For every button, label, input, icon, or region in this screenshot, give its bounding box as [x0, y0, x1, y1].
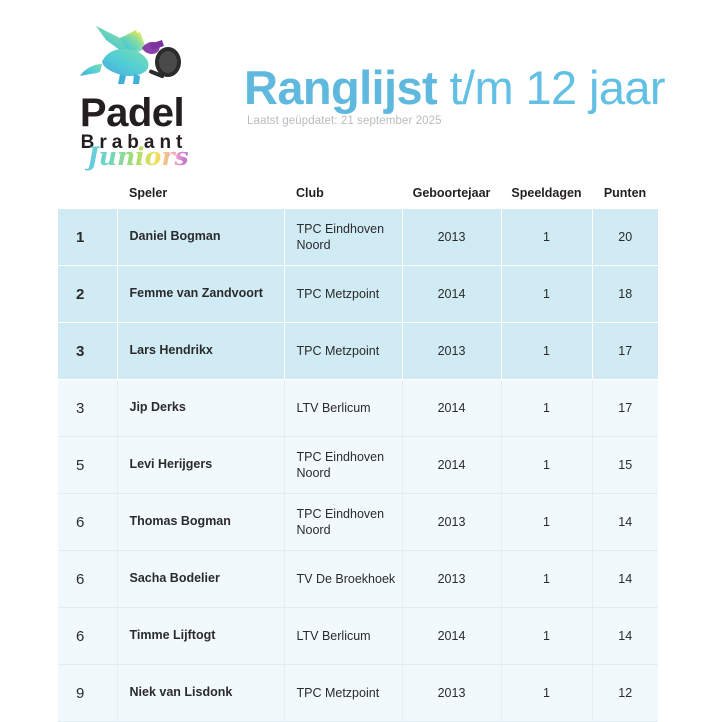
cell-speeldagen: 1 — [501, 551, 592, 608]
dragon-with-padel-racket-icon — [76, 22, 188, 96]
ranking-table: Speler Club Geboortejaar Speeldagen Punt… — [58, 186, 658, 722]
cell-speeldagen: 1 — [501, 437, 592, 494]
cell-rank: 3 — [58, 380, 117, 437]
cell-punten: 20 — [592, 209, 658, 266]
cell-speler: Timme Lijftogt — [117, 608, 284, 665]
cell-speler: Thomas Bogman — [117, 494, 284, 551]
svg-text:Juniors: Juniors — [85, 142, 189, 171]
cell-speeldagen: 1 — [501, 665, 592, 722]
cell-club: LTV Berlicum — [284, 380, 402, 437]
table-header: Speler Club Geboortejaar Speeldagen Punt… — [58, 186, 658, 209]
cell-club: TPC Metzpoint — [284, 266, 402, 323]
cell-speeldagen: 1 — [501, 209, 592, 266]
cell-club: TPC Metzpoint — [284, 665, 402, 722]
column-header-geboortejaar: Geboortejaar — [402, 186, 501, 209]
table-row[interactable]: 6Timme LijftogtLTV Berlicum2014114 — [58, 608, 658, 665]
cell-rank: 2 — [58, 266, 117, 323]
cell-club: TPC Eindhoven Noord — [284, 494, 402, 551]
page-title-strong: Ranglijst — [244, 61, 437, 114]
cell-rank: 5 — [58, 437, 117, 494]
cell-geboortejaar: 2014 — [402, 437, 501, 494]
cell-punten: 15 — [592, 437, 658, 494]
cell-speeldagen: 1 — [501, 608, 592, 665]
cell-rank: 9 — [58, 665, 117, 722]
cell-geboortejaar: 2014 — [402, 266, 501, 323]
last-updated-text: Laatst geüpdatet: 21 september 2025 — [247, 115, 665, 127]
column-header-speeldagen: Speeldagen — [501, 186, 592, 209]
cell-punten: 14 — [592, 608, 658, 665]
cell-punten: 14 — [592, 494, 658, 551]
cell-punten: 17 — [592, 380, 658, 437]
page-title: Ranglijst t/m 12 jaar — [244, 64, 665, 112]
ranking-page: Padel Brabant Juniors Ranglijst t/m 1 — [0, 0, 720, 720]
column-header-rank — [58, 186, 117, 209]
cell-speeldagen: 1 — [501, 380, 592, 437]
brand-name-padel: Padel — [80, 94, 184, 132]
cell-club: TPC Metzpoint — [284, 323, 402, 380]
page-title-light: t/m 12 jaar — [437, 61, 665, 114]
cell-geboortejaar: 2014 — [402, 608, 501, 665]
cell-speler: Jip Derks — [117, 380, 284, 437]
column-header-speler: Speler — [117, 186, 284, 209]
cell-club: LTV Berlicum — [284, 608, 402, 665]
cell-punten: 12 — [592, 665, 658, 722]
cell-geboortejaar: 2013 — [402, 665, 501, 722]
cell-rank: 6 — [58, 551, 117, 608]
ranking-table-wrapper: Speler Club Geboortejaar Speeldagen Punt… — [58, 186, 658, 722]
cell-club: TV De Broekhoek — [284, 551, 402, 608]
cell-geboortejaar: 2013 — [402, 323, 501, 380]
cell-rank: 6 — [58, 494, 117, 551]
column-header-punten: Punten — [592, 186, 658, 209]
cell-punten: 18 — [592, 266, 658, 323]
brand-logo: Padel Brabant Juniors — [42, 22, 222, 172]
cell-speeldagen: 1 — [501, 494, 592, 551]
table-row[interactable]: 2Femme van ZandvoortTPC Metzpoint2014118 — [58, 266, 658, 323]
cell-rank: 3 — [58, 323, 117, 380]
cell-geboortejaar: 2014 — [402, 380, 501, 437]
table-row[interactable]: 6Sacha BodelierTV De Broekhoek2013114 — [58, 551, 658, 608]
table-row[interactable]: 1Daniel BogmanTPC Eindhoven Noord2013120 — [58, 209, 658, 266]
cell-punten: 14 — [592, 551, 658, 608]
cell-geboortejaar: 2013 — [402, 551, 501, 608]
cell-speeldagen: 1 — [501, 323, 592, 380]
table-row[interactable]: 6Thomas BogmanTPC Eindhoven Noord2013114 — [58, 494, 658, 551]
cell-punten: 17 — [592, 323, 658, 380]
table-body: 1Daniel BogmanTPC Eindhoven Noord2013120… — [58, 209, 658, 722]
cell-speler: Femme van Zandvoort — [117, 266, 284, 323]
cell-club: TPC Eindhoven Noord — [284, 209, 402, 266]
cell-rank: 1 — [58, 209, 117, 266]
table-row[interactable]: 3Jip DerksLTV Berlicum2014117 — [58, 380, 658, 437]
page-header: Padel Brabant Juniors Ranglijst t/m 1 — [0, 0, 720, 170]
table-row[interactable]: 3Lars HendrikxTPC Metzpoint2013117 — [58, 323, 658, 380]
table-row[interactable]: 9Niek van LisdonkTPC Metzpoint2013112 — [58, 665, 658, 722]
title-block: Ranglijst t/m 12 jaar Laatst geüpdatet: … — [244, 22, 665, 127]
brand-name-juniors: Juniors — [85, 142, 205, 172]
cell-speeldagen: 1 — [501, 266, 592, 323]
table-row[interactable]: 5Levi HerijgersTPC Eindhoven Noord201411… — [58, 437, 658, 494]
cell-speler: Daniel Bogman — [117, 209, 284, 266]
cell-geboortejaar: 2013 — [402, 494, 501, 551]
cell-rank: 6 — [58, 608, 117, 665]
cell-geboortejaar: 2013 — [402, 209, 501, 266]
cell-speler: Levi Herijgers — [117, 437, 284, 494]
cell-speler: Lars Hendrikx — [117, 323, 284, 380]
cell-club: TPC Eindhoven Noord — [284, 437, 402, 494]
cell-speler: Niek van Lisdonk — [117, 665, 284, 722]
cell-speler: Sacha Bodelier — [117, 551, 284, 608]
column-header-club: Club — [284, 186, 402, 209]
table-header-row: Speler Club Geboortejaar Speeldagen Punt… — [58, 186, 658, 209]
